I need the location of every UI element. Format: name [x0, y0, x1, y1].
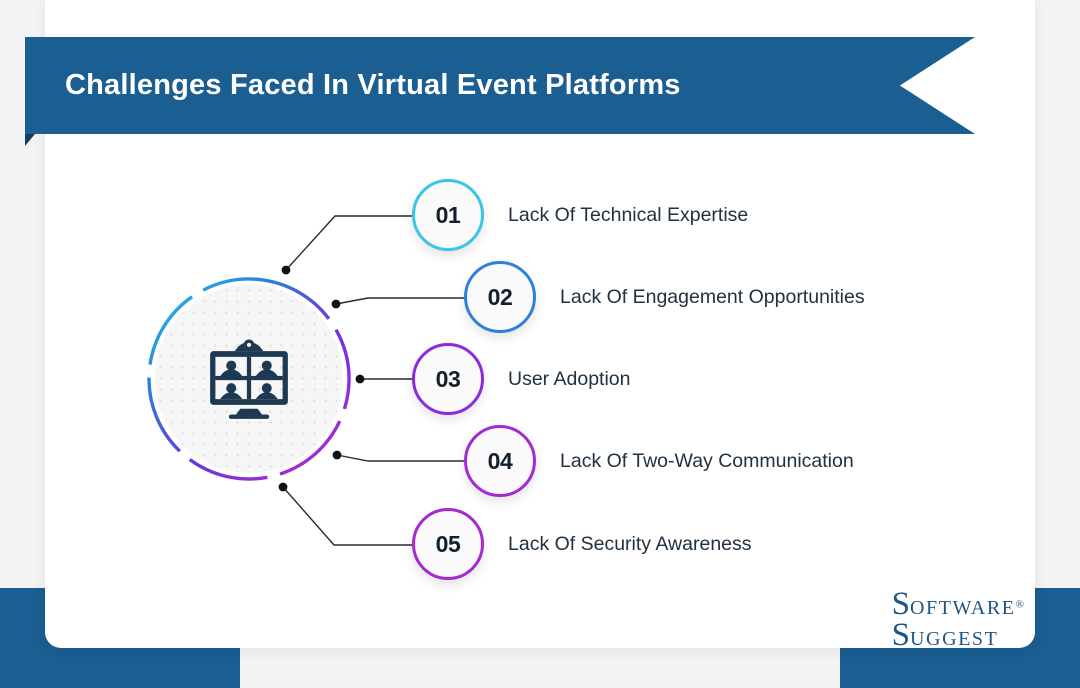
list-item-03[interactable]: 03 User Adoption — [412, 343, 631, 415]
video-conference-icon — [201, 331, 297, 427]
logo-line-1: SOFTWARE® — [892, 589, 1024, 619]
number-text-04: 04 — [488, 448, 513, 475]
number-text-05: 05 — [436, 531, 461, 558]
logo-line-2: SUGGEST — [892, 620, 1024, 650]
number-text-02: 02 — [488, 284, 513, 311]
list-item-02[interactable]: 02 Lack Of Engagement Opportunities — [464, 261, 865, 333]
logo-cap-s-2: S — [892, 617, 910, 653]
number-badge-01[interactable]: 01 — [412, 179, 484, 251]
connector-01 — [286, 216, 412, 270]
list-item-05[interactable]: 05 Lack Of Security Awareness — [412, 508, 752, 580]
number-text-03: 03 — [436, 366, 461, 393]
item-label-03: User Adoption — [508, 368, 631, 391]
number-badge-04[interactable]: 04 — [464, 425, 536, 497]
number-badge-05[interactable]: 05 — [412, 508, 484, 580]
logo-text-suggest: UGGEST — [910, 628, 999, 650]
infographic-canvas: Challenges Faced In Virtual Event Platfo… — [0, 0, 1080, 688]
list-item-01[interactable]: 01 Lack Of Technical Expertise — [412, 179, 748, 251]
connector-dot-03 — [356, 375, 365, 384]
number-text-01: 01 — [436, 202, 461, 229]
softwaresuggest-logo: SOFTWARE® SUGGEST — [892, 589, 1024, 650]
connector-02 — [336, 298, 464, 304]
central-hub — [144, 274, 354, 484]
item-label-02: Lack Of Engagement Opportunities — [560, 286, 865, 309]
registered-mark-icon: ® — [1016, 599, 1024, 611]
item-label-01: Lack Of Technical Expertise — [508, 204, 748, 227]
hub-disc — [155, 285, 343, 473]
logo-text-software: OFTWARE — [910, 597, 1016, 619]
number-badge-02[interactable]: 02 — [464, 261, 536, 333]
list-item-04[interactable]: 04 Lack Of Two-Way Communication — [464, 425, 854, 497]
item-label-05: Lack Of Security Awareness — [508, 533, 752, 556]
number-badge-03[interactable]: 03 — [412, 343, 484, 415]
connector-05 — [283, 487, 412, 545]
item-label-04: Lack Of Two-Way Communication — [560, 450, 854, 473]
connector-04 — [337, 455, 464, 461]
